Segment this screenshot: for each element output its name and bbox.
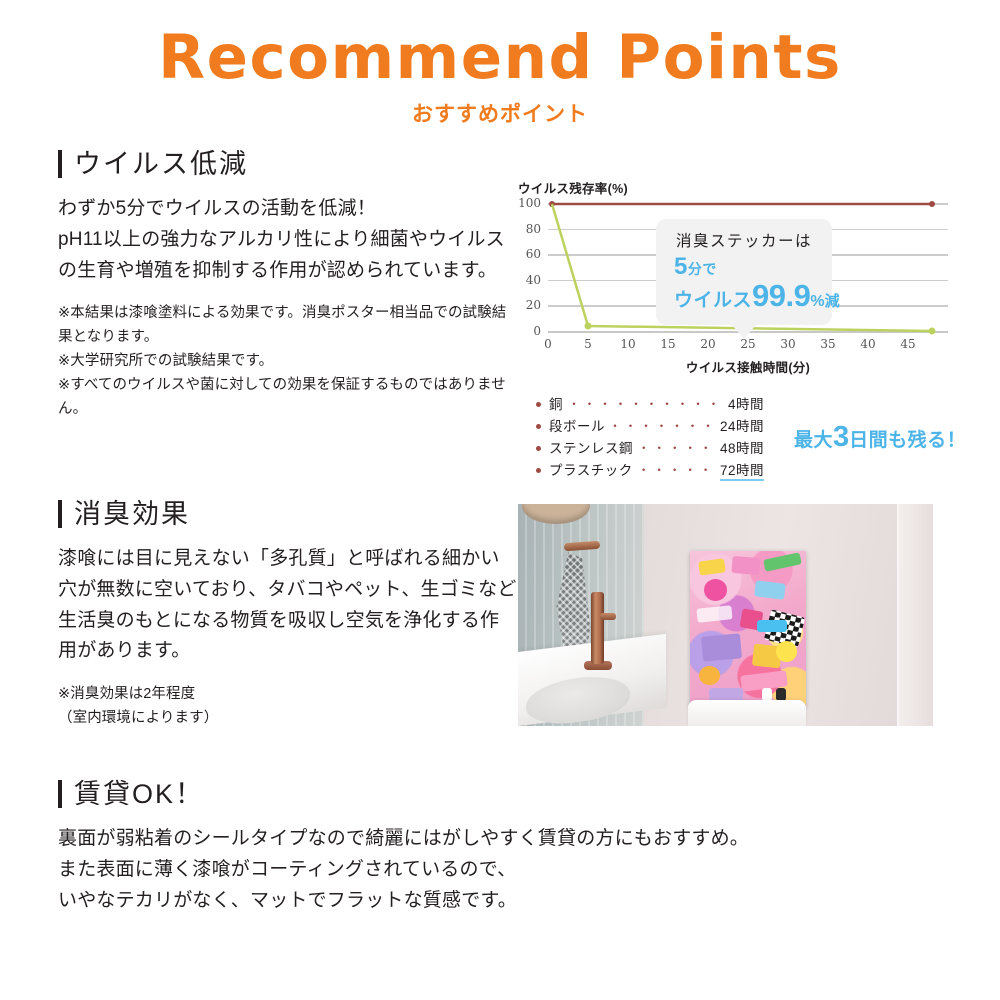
leader-dots: ・・・・・	[633, 461, 720, 480]
x-tick-label: 5	[584, 337, 592, 351]
section-body-text: 漆喰には目に見えない「多孔質」と呼ばれる細かい穴が無数に空いており、タバコやペッ…	[58, 544, 518, 667]
page-header: Recommend Points おすすめポイント	[0, 0, 1000, 128]
section-heading-label: 賃貸OK！	[74, 781, 204, 808]
x-tick-label: 10	[620, 337, 635, 351]
poster-sticker	[701, 634, 742, 662]
poster-sticker	[704, 579, 727, 601]
note-item: ※大学研究所での試験結果です。	[58, 350, 518, 374]
max-days-number: 3	[833, 421, 849, 453]
section-heading: 賃貸OK！	[58, 780, 918, 808]
y-tick-label: 40	[526, 273, 541, 287]
callout-line-3: ウイルス99.9%減	[662, 280, 826, 313]
poster-sticker	[731, 556, 760, 576]
section-heading: 消臭効果	[58, 500, 518, 528]
callout-virus-value: 99.9	[752, 278, 810, 313]
max-days-suffix: 日間も残る！	[849, 430, 966, 451]
virus-survival-chart: ウイルス残存率(%) 100 80 60 40 20 0 0 5 10	[518, 178, 948, 481]
leader-dots: ・・・・・・・・・・	[563, 395, 728, 414]
x-tick-label: 30	[780, 337, 795, 351]
virus-chart-panel: ウイルス残存率(%) 100 80 60 40 20 0 0 5 10	[518, 178, 958, 481]
series-point-control	[929, 201, 935, 207]
table-row: 段ボール ・・・・・・・ 24時間	[536, 416, 764, 438]
poster-sticker	[696, 605, 732, 623]
note-item: ※消臭効果は2年程度	[58, 683, 518, 707]
y-tick-label: 60	[526, 247, 541, 261]
table-row: 銅 ・・・・・・・・・・ 4時間	[536, 394, 764, 416]
section-notes: ※本結果は漆喰塗料による効果です。消臭ポスター相当品での試験結果となります。 ※…	[58, 302, 518, 422]
bathroom-photo	[518, 504, 933, 726]
leader-dots: ・・・・・・・	[605, 417, 720, 436]
poster-sticker	[776, 688, 786, 700]
section-body-text: 裏面が弱粘着のシールタイプなので綺麗にはがしやすく賃貸の方にもおすすめ。 また表…	[58, 824, 918, 916]
photo-faucet-lever	[600, 613, 616, 620]
section-virus-reduction-text: ウイルス低減 わずか5分でウイルスの活動を低減！ pH11以上の強力なアルカリ性…	[58, 150, 518, 422]
material-time-highlighted: 72時間	[720, 460, 764, 482]
poster-sticker	[698, 559, 725, 576]
section-heading-label: ウイルス低減	[74, 151, 248, 178]
page-subtitle: おすすめポイント	[0, 98, 1000, 128]
poster-sticker	[754, 580, 786, 599]
note-item: （室内環境によります）	[58, 707, 518, 731]
poster-sticker	[763, 552, 802, 572]
callout-line-1: 消臭ステッカーは	[662, 229, 826, 251]
callout-virus-prefix: ウイルス	[674, 290, 752, 311]
y-tick-label: 100	[518, 196, 541, 210]
photo-faucet	[591, 592, 604, 664]
series-point-sticker	[585, 323, 592, 330]
section-deodorizing-text: 消臭効果 漆喰には目に見えない「多孔質」と呼ばれる細かい穴が無数に空いており、タ…	[58, 500, 518, 731]
material-time: 4時間	[728, 394, 764, 416]
poster-sticker	[757, 620, 787, 632]
heading-bar-icon	[58, 780, 62, 808]
note-item: ※すべてのウイルスや菌に対しての効果を保証するものではありません。	[58, 374, 518, 422]
page-title: Recommend Points	[0, 26, 1000, 90]
chart-y-axis-label: ウイルス残存率(%)	[518, 178, 948, 197]
section-notes: ※消臭効果は2年程度 （室内環境によります）	[58, 683, 518, 731]
callout-line-2: 5分で	[662, 254, 826, 279]
y-tick-label: 20	[526, 298, 541, 312]
bullet-icon	[536, 402, 541, 407]
x-tick-label: 15	[660, 337, 675, 351]
bullet-icon	[536, 468, 541, 473]
material-name: プラスチック	[549, 460, 633, 482]
material-list: 銅 ・・・・・・・・・・ 4時間 段ボール ・・・・・・・ 24時間 ステンレス…	[536, 394, 764, 481]
material-survival-table: 銅 ・・・・・・・・・・ 4時間 段ボール ・・・・・・・ 24時間 ステンレス…	[536, 394, 948, 481]
section-body-text: わずか5分でウイルスの活動を低減！ pH11以上の強力なアルカリ性により細菌やウ…	[58, 194, 518, 286]
bullet-icon	[536, 446, 541, 451]
x-tick-label: 25	[740, 337, 755, 351]
y-tick-label: 0	[533, 324, 541, 338]
callout-virus-suffix: 減	[825, 293, 840, 310]
max-days-callout: 最大3日間も残る！	[794, 421, 966, 454]
callout-minutes-suffix: で	[702, 261, 717, 277]
chart-plot-area: 100 80 60 40 20 0 0 5 10 15 20 25 30 35 …	[548, 203, 948, 331]
poster-sticker	[699, 666, 720, 685]
poster-sticker	[776, 641, 797, 661]
bullet-icon	[536, 424, 541, 429]
x-tick-label: 45	[900, 337, 915, 351]
max-days-prefix: 最大	[794, 430, 833, 451]
material-name: 銅	[549, 394, 563, 416]
heading-bar-icon	[58, 150, 62, 178]
table-row: プラスチック ・・・・・ 72時間	[536, 460, 764, 482]
x-tick-label: 40	[860, 337, 875, 351]
callout-minutes-value: 5	[674, 253, 688, 280]
material-time: 24時間	[720, 416, 764, 438]
callout-minutes-unit: 分	[688, 261, 703, 277]
section-heading-label: 消臭効果	[74, 501, 190, 528]
poster-sticker	[709, 688, 744, 700]
y-tick-label: 80	[526, 222, 541, 236]
note-item: ※本結果は漆喰塗料による効果です。消臭ポスター相当品での試験結果となります。	[58, 302, 518, 350]
callout-percent-sign: %	[810, 293, 824, 310]
table-row: ステンレス鋼 ・・・・・ 48時間	[536, 438, 764, 460]
poster-sticker	[762, 688, 772, 700]
chart-x-axis-label: ウイルス接触時間(分)	[548, 357, 948, 376]
leader-dots: ・・・・・	[633, 439, 720, 458]
section-heading: ウイルス低減	[58, 150, 518, 178]
series-point-sticker	[929, 328, 936, 335]
material-name: ステンレス鋼	[549, 438, 633, 460]
material-name: 段ボール	[549, 416, 605, 438]
x-tick-label: 0	[544, 337, 552, 351]
section-rental-ok-text: 賃貸OK！ 裏面が弱粘着のシールタイプなので綺麗にはがしやすく賃貸の方にもおすす…	[58, 780, 918, 916]
heading-bar-icon	[58, 500, 62, 528]
bathroom-photo-panel	[518, 504, 958, 726]
photo-toilet-tank	[688, 700, 806, 726]
material-time: 48時間	[720, 438, 764, 460]
photo-wall-right	[899, 504, 933, 726]
x-tick-label: 35	[820, 337, 835, 351]
photo-sticker-poster	[690, 551, 806, 707]
x-tick-label: 20	[700, 337, 715, 351]
chart-annotation-callout: 消臭ステッカーは 5分で ウイルス99.9%減	[656, 219, 832, 325]
